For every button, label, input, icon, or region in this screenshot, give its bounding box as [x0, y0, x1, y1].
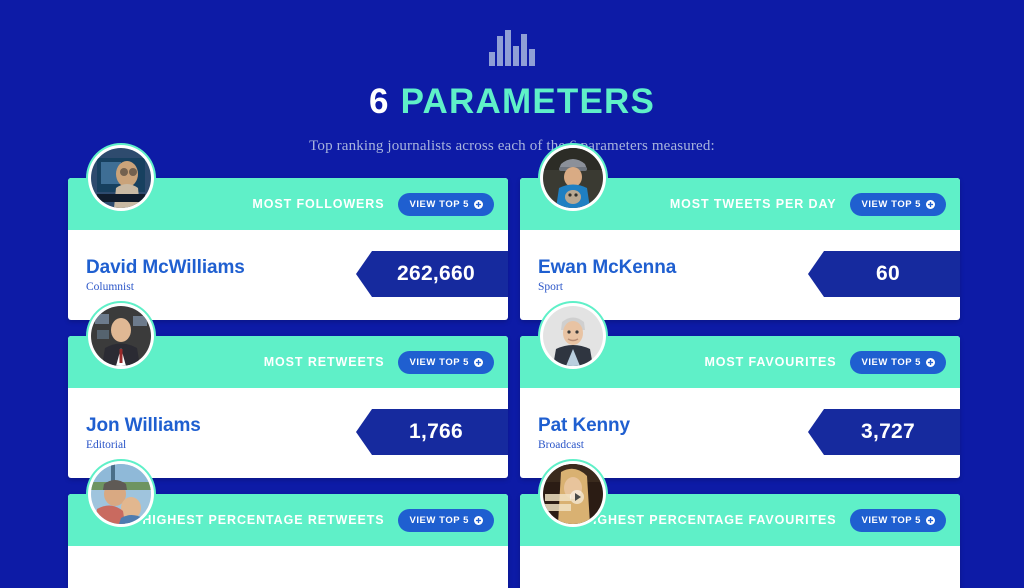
card-title: MOST FOLLOWERS — [252, 197, 384, 211]
parameter-card[interactable]: HIGHEST PERCENTAGE FAVOURITES VIEW TOP 5 — [520, 494, 960, 588]
avatar-jon-williams — [91, 306, 151, 366]
value-banner: 3,727 — [808, 409, 960, 455]
card-title: MOST RETWEETS — [264, 355, 385, 369]
page-subtitle: Top ranking journalists across each of t… — [0, 138, 1024, 155]
avatar — [538, 301, 608, 371]
view-top-5-label: VIEW TOP 5 — [861, 199, 921, 210]
page-title: 6 PARAMETERS — [0, 84, 1024, 119]
parameter-card[interactable]: MOST RETWEETS VIEW TOP 5 Jon Williams Ed… — [68, 336, 508, 478]
page-title-number: 6 — [369, 82, 390, 121]
avatar-highest-percentage-favourites — [543, 464, 603, 524]
parameter-card[interactable]: MOST FAVOURITES VIEW TOP 5 Pat Kenny Bro… — [520, 336, 960, 478]
avatar — [538, 459, 608, 529]
avatar-david-mcwilliams — [91, 148, 151, 208]
plus-circle-icon — [474, 516, 483, 525]
plus-circle-icon — [474, 358, 483, 367]
page-header: 6 PARAMETERS Top ranking journalists acr… — [0, 0, 1024, 155]
avatar — [86, 301, 156, 371]
avatar-ring — [88, 145, 154, 211]
view-top-5-button[interactable]: VIEW TOP 5 — [850, 193, 946, 216]
value-banner: 262,660 — [356, 251, 508, 297]
view-top-5-label: VIEW TOP 5 — [409, 199, 469, 210]
parameter-card[interactable]: MOST TWEETS PER DAY VIEW TOP 5 Ewan McKe… — [520, 178, 960, 320]
avatar — [86, 143, 156, 213]
view-top-5-label: VIEW TOP 5 — [409, 515, 469, 526]
card-title: HIGHEST PERCENTAGE RETWEETS — [142, 513, 384, 527]
view-top-5-button[interactable]: VIEW TOP 5 — [850, 509, 946, 532]
avatar-ewan-mckenna — [543, 148, 603, 208]
card-title: HIGHEST PERCENTAGE FAVOURITES — [583, 513, 836, 527]
card-body — [68, 546, 508, 588]
card-body — [520, 546, 960, 588]
avatar-ring — [88, 303, 154, 369]
card-title: MOST FAVOURITES — [704, 355, 836, 369]
view-top-5-button[interactable]: VIEW TOP 5 — [398, 351, 494, 374]
value-banner: 60 — [808, 251, 960, 297]
avatar-ring — [540, 303, 606, 369]
plus-circle-icon — [474, 200, 483, 209]
avatar-ring — [540, 461, 606, 527]
parameter-card[interactable]: MOST FOLLOWERS VIEW TOP 5 David McWillia… — [68, 178, 508, 320]
parameter-card[interactable]: HIGHEST PERCENTAGE RETWEETS VIEW TOP 5 — [68, 494, 508, 588]
avatar — [538, 143, 608, 213]
value-banner: 1,766 — [356, 409, 508, 455]
view-top-5-button[interactable]: VIEW TOP 5 — [398, 509, 494, 532]
view-top-5-label: VIEW TOP 5 — [409, 357, 469, 368]
avatar-ring — [88, 461, 154, 527]
page-title-word: PARAMETERS — [401, 82, 655, 121]
card-title: MOST TWEETS PER DAY — [670, 197, 837, 211]
avatar-pat-kenny — [543, 306, 603, 366]
avatar-highest-percentage-retweets — [91, 464, 151, 524]
plus-circle-icon — [926, 200, 935, 209]
bar-chart-icon — [489, 30, 535, 66]
view-top-5-button[interactable]: VIEW TOP 5 — [398, 193, 494, 216]
plus-circle-icon — [926, 358, 935, 367]
view-top-5-label: VIEW TOP 5 — [861, 357, 921, 368]
plus-circle-icon — [926, 516, 935, 525]
avatar — [86, 459, 156, 529]
parameter-cards-grid: MOST FOLLOWERS VIEW TOP 5 David McWillia… — [68, 178, 960, 588]
view-top-5-label: VIEW TOP 5 — [861, 515, 921, 526]
view-top-5-button[interactable]: VIEW TOP 5 — [850, 351, 946, 374]
avatar-ring — [540, 145, 606, 211]
